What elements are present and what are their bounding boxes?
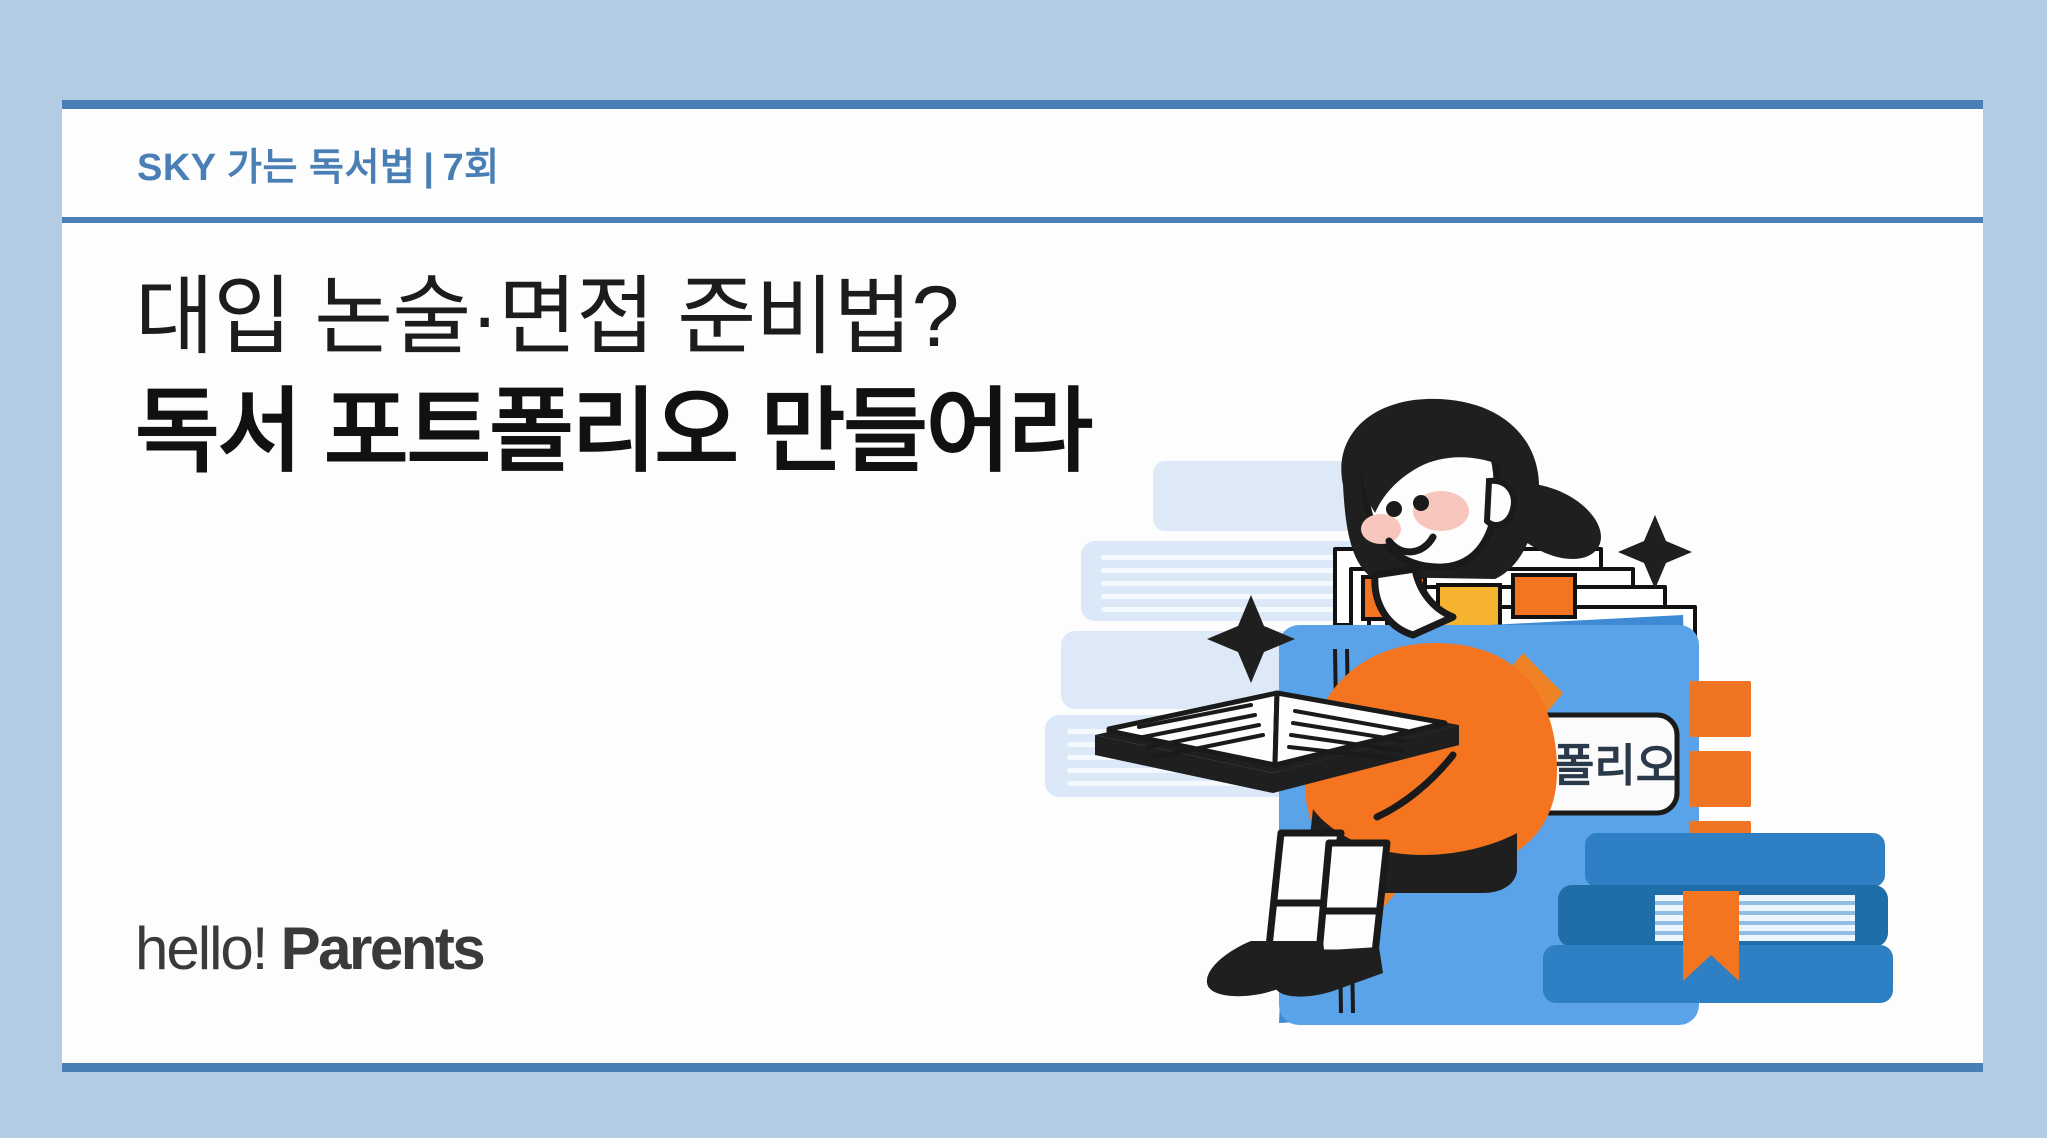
- brand-logo-parents: Parents: [266, 915, 483, 982]
- eye-left: [1386, 501, 1402, 517]
- header-divider-rule: [62, 217, 1983, 223]
- hero-illustration: 독서 포트폴리오: [983, 363, 1983, 1063]
- eye-right: [1413, 495, 1429, 511]
- episode-number: 7회: [443, 147, 500, 189]
- poster-canvas: SKY 가는 독서법|7회 대입 논술·면접 준비법? 독서 포트폴리오 만들어…: [0, 0, 2047, 1138]
- series-title: SKY 가는 독서법: [137, 147, 415, 189]
- brand-logo-hello: hello!: [135, 915, 266, 982]
- content-card: SKY 가는 독서법|7회 대입 논술·면접 준비법? 독서 포트폴리오 만들어…: [62, 100, 1983, 1072]
- brand-logo: hello! Parents: [135, 919, 483, 979]
- blue-book-stack: [1543, 833, 1893, 1003]
- series-kicker: SKY 가는 독서법|7회: [137, 136, 500, 191]
- cheek-blush-left: [1361, 514, 1401, 544]
- headline-line-1: 대입 논술·면접 준비법?: [135, 267, 1315, 368]
- kicker-separator: |: [415, 147, 442, 189]
